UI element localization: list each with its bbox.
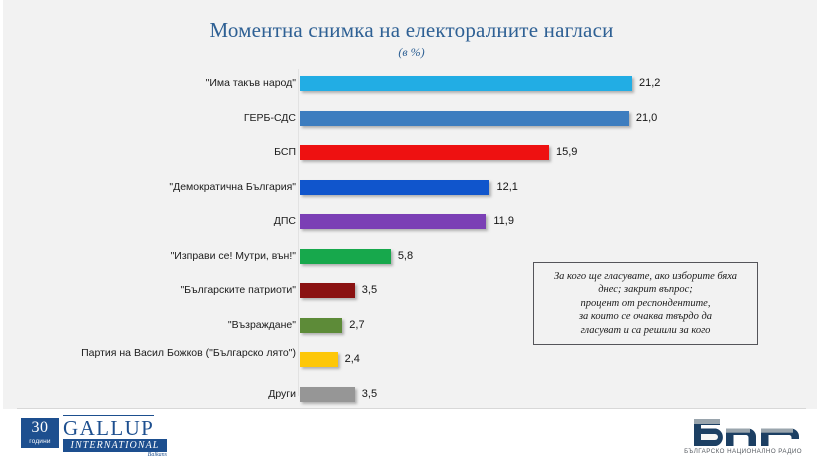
gallup-region-label: Balkans: [63, 451, 167, 459]
bar: [300, 318, 342, 333]
chart-row: Партия на Васил Божков ("Българско лято"…: [3, 352, 817, 384]
gallup-anniversary-badge: 30 години: [21, 418, 59, 448]
bnr-mark-icon: [690, 417, 802, 447]
bar-fill: [300, 249, 391, 264]
bar-fill: [300, 214, 486, 229]
bar-fill: [300, 318, 342, 333]
category-label: "Българските патриоти": [46, 284, 296, 297]
methodology-note-text: За кого ще гласувате, ако изборите бяха …: [546, 270, 745, 337]
title-block: Моментна снимка на електоралните нагласи…: [3, 17, 817, 60]
category-label: ГЕРБ-СДС: [46, 112, 296, 125]
chart-row: ГЕРБ-СДС21,0: [3, 111, 817, 143]
category-label: ДПС: [46, 215, 296, 228]
bar: [300, 352, 338, 367]
bar: [300, 283, 355, 298]
footer: 30 години GALLUP INTERNATIONAL Balkans Б…: [3, 409, 817, 463]
bar: [300, 180, 489, 195]
bar-fill: [300, 387, 355, 402]
category-label: Партия на Васил Божков ("Българско лято"…: [46, 347, 296, 360]
chart-subtitle: (в %): [3, 44, 817, 60]
bar-value-label: 2,7: [349, 318, 364, 333]
bar-value-label: 15,9: [556, 145, 577, 160]
gallup-wordmark: GALLUP: [63, 415, 154, 440]
bnr-logo: БЪЛГАРСКО НАЦИОНАЛНО РАДИО: [680, 417, 802, 459]
bar: [300, 145, 549, 160]
bar-fill: [300, 180, 489, 195]
bar-fill: [300, 352, 338, 367]
category-label: Други: [46, 388, 296, 401]
page-title: Моментна снимка на електоралните нагласи: [3, 17, 817, 43]
category-label: "Демократична България": [46, 181, 296, 194]
bar-value-label: 21,2: [639, 76, 660, 91]
bar-value-label: 11,9: [493, 214, 514, 229]
chart-plot-area: "Има такъв народ"21,2ГЕРБ-СДС21,0БСП15,9…: [3, 66, 817, 402]
bar-fill: [300, 76, 632, 91]
category-label: "Възраждане": [46, 319, 296, 332]
bar: [300, 111, 629, 126]
bar-fill: [300, 111, 629, 126]
bar-fill: [300, 283, 355, 298]
bar: [300, 214, 486, 229]
bar-value-label: 3,5: [362, 283, 377, 298]
bar: [300, 387, 355, 402]
category-label: БСП: [46, 146, 296, 159]
chart-row: ДПС11,9: [3, 214, 817, 246]
chart-page: Моментна снимка на електоралните нагласи…: [0, 0, 817, 463]
chart-row: "Има такъв народ"21,2: [3, 76, 817, 108]
bnr-caption: БЪЛГАРСКО НАЦИОНАЛНО РАДИО: [680, 448, 802, 456]
bar-fill: [300, 145, 549, 160]
bar-value-label: 12,1: [496, 180, 517, 195]
category-label: "Изправи се! Мутри, вън!": [46, 250, 296, 263]
category-label: "Има такъв народ": [46, 77, 296, 90]
bar: [300, 249, 391, 264]
gallup-logo: 30 години GALLUP INTERNATIONAL Balkans: [21, 415, 166, 459]
chart-row: "Демократична България"12,1: [3, 180, 817, 212]
chart-row: БСП15,9: [3, 145, 817, 177]
bar-value-label: 21,0: [636, 111, 657, 126]
gallup-anniversary-word: години: [21, 437, 59, 446]
bar-value-label: 3,5: [362, 387, 377, 402]
gallup-anniversary-number: 30: [21, 418, 59, 437]
bar-value-label: 2,4: [345, 352, 360, 367]
bar-value-label: 5,8: [398, 249, 413, 264]
bar: [300, 76, 632, 91]
methodology-note-box: За кого ще гласувате, ако изборите бяха …: [533, 262, 758, 345]
